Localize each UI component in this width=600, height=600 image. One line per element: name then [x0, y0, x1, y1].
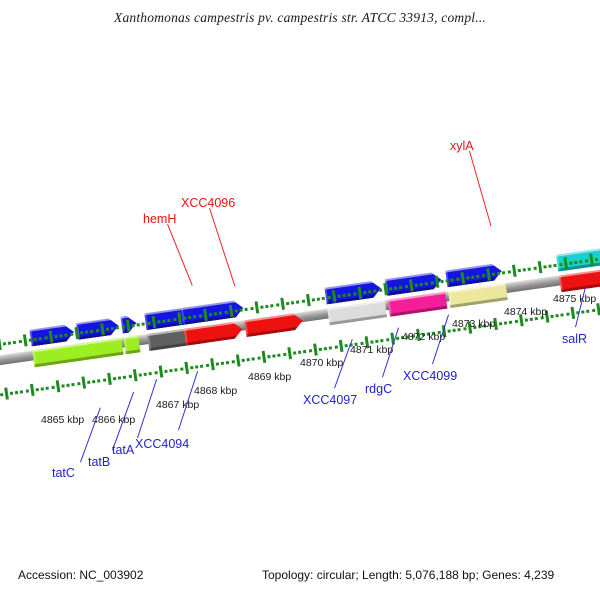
- minor-tick: [303, 350, 306, 353]
- minor-tick: [195, 365, 198, 368]
- minor-tick: [190, 366, 193, 369]
- minor-tick: [224, 311, 227, 314]
- major-tick: [435, 276, 440, 288]
- minor-tick: [260, 306, 263, 309]
- minor-tick: [70, 333, 73, 336]
- minor-tick: [271, 304, 274, 307]
- minor-tick: [272, 354, 275, 357]
- gene-feature-XCC4099-box[interactable]: [448, 283, 508, 308]
- gene-label-hemH[interactable]: hemH: [143, 212, 176, 226]
- minor-tick: [574, 261, 577, 264]
- minor-tick: [595, 258, 598, 261]
- minor-tick: [46, 387, 49, 390]
- minor-tick: [499, 322, 502, 325]
- minor-tick: [80, 331, 83, 334]
- minor-tick: [193, 315, 196, 318]
- minor-tick: [137, 323, 140, 326]
- minor-tick: [231, 360, 234, 363]
- minor-tick: [363, 291, 366, 294]
- minor-tick: [291, 301, 294, 304]
- major-tick: [0, 338, 2, 350]
- minor-tick: [219, 311, 222, 314]
- ruler-label-4865: 4865 kbp: [41, 414, 84, 426]
- minor-tick: [525, 318, 528, 321]
- ruler-label-4875: 4875 kbp: [553, 293, 596, 305]
- minor-tick: [15, 391, 18, 394]
- major-tick: [313, 343, 318, 355]
- gene-feature-XCC4096-cds[interactable]: [244, 312, 304, 337]
- minor-tick: [85, 330, 88, 333]
- minor-tick: [118, 376, 121, 379]
- minor-tick: [10, 392, 13, 395]
- ruler-label-4871: 4871 kbp: [350, 344, 393, 356]
- minor-tick: [319, 348, 322, 351]
- minor-tick: [51, 386, 54, 389]
- minor-tick: [77, 382, 80, 385]
- minor-tick: [327, 296, 330, 299]
- major-tick: [236, 354, 241, 366]
- major-tick: [596, 303, 600, 315]
- minor-tick: [247, 358, 250, 361]
- minor-tick: [368, 290, 371, 293]
- minor-tick: [66, 384, 69, 387]
- major-tick: [589, 254, 594, 266]
- minor-tick: [379, 289, 382, 292]
- major-tick: [210, 358, 215, 370]
- minor-tick: [128, 375, 131, 378]
- minor-tick: [425, 282, 428, 285]
- minor-tick: [121, 325, 124, 328]
- gene-feature-tatA-box[interactable]: [123, 335, 140, 354]
- major-tick: [409, 279, 414, 291]
- minor-tick: [44, 336, 47, 339]
- minor-tick: [420, 283, 423, 286]
- major-tick: [261, 351, 266, 363]
- minor-tick: [113, 377, 116, 380]
- major-tick: [23, 334, 28, 346]
- major-tick: [563, 257, 568, 269]
- minor-tick: [283, 353, 286, 356]
- minor-tick: [296, 300, 299, 303]
- minor-tick: [157, 320, 160, 323]
- minor-tick: [559, 263, 562, 266]
- major-tick: [512, 265, 517, 277]
- sequence-viewer-panel: Xanthomonas campestris pv. campestris st…: [0, 0, 600, 600]
- ruler-label-4866: 4866 kbp: [92, 414, 135, 426]
- minor-tick: [154, 371, 157, 374]
- minor-tick: [509, 321, 512, 324]
- minor-tick: [111, 327, 114, 330]
- minor-tick: [301, 300, 304, 303]
- minor-tick: [188, 316, 191, 319]
- topology-text: Topology: circular; Length: 5,076,188 bp…: [262, 568, 554, 582]
- minor-tick: [399, 286, 402, 289]
- gene-feature-hemH-cds[interactable]: [184, 321, 244, 346]
- minor-tick: [234, 309, 237, 312]
- gene-label-XCC4099[interactable]: XCC4099: [403, 369, 457, 383]
- minor-tick: [147, 322, 150, 325]
- minor-tick: [168, 319, 171, 322]
- minor-tick: [592, 309, 595, 312]
- minor-tick: [226, 361, 229, 364]
- minor-tick: [175, 368, 178, 371]
- major-tick: [254, 301, 259, 313]
- minor-tick: [396, 337, 399, 340]
- minor-tick: [579, 260, 582, 263]
- major-tick: [306, 294, 311, 306]
- minor-tick: [566, 313, 569, 316]
- minor-tick: [29, 338, 32, 341]
- minor-tick: [334, 345, 337, 348]
- minor-tick: [20, 390, 23, 393]
- minor-tick: [293, 351, 296, 354]
- minor-tick: [87, 381, 90, 384]
- major-tick: [339, 340, 344, 352]
- minor-tick: [144, 373, 147, 376]
- gene-label-tatA[interactable]: tatA: [112, 443, 134, 457]
- minor-tick: [329, 346, 332, 349]
- minor-tick: [97, 379, 100, 382]
- major-tick: [383, 283, 388, 295]
- minor-tick: [504, 321, 507, 324]
- major-tick: [538, 261, 543, 273]
- minor-tick: [518, 269, 521, 272]
- major-tick: [229, 305, 234, 317]
- minor-tick: [132, 324, 135, 327]
- ruler-label-4873: 4873 kbp: [452, 318, 495, 330]
- minor-tick: [549, 264, 552, 267]
- minor-tick: [344, 344, 347, 347]
- minor-tick: [404, 285, 407, 288]
- major-tick: [287, 347, 292, 359]
- minor-tick: [278, 354, 281, 357]
- minor-tick: [348, 293, 351, 296]
- major-tick: [107, 373, 112, 385]
- minor-tick: [36, 388, 39, 391]
- minor-tick: [353, 292, 356, 295]
- minor-tick: [308, 349, 311, 352]
- gene-label-rdgC[interactable]: rdgC: [365, 382, 392, 396]
- minor-tick: [447, 329, 450, 332]
- gene-feature-body: [184, 321, 244, 346]
- minor-tick: [216, 362, 219, 365]
- gene-feature-rdgC-box[interactable]: [388, 292, 448, 317]
- minor-tick: [34, 338, 37, 341]
- major-tick: [30, 384, 35, 396]
- gene-feature-body: [244, 312, 304, 337]
- ruler-label-4867: 4867 kbp: [156, 399, 199, 411]
- minor-tick: [569, 262, 572, 265]
- minor-tick: [322, 297, 325, 300]
- major-tick: [151, 316, 156, 328]
- minor-tick: [276, 303, 279, 306]
- major-tick: [280, 298, 285, 310]
- minor-tick: [162, 319, 165, 322]
- major-tick: [55, 380, 60, 392]
- minor-tick: [298, 351, 301, 354]
- minor-tick: [265, 305, 268, 308]
- minor-tick: [149, 372, 152, 375]
- minor-tick: [41, 387, 44, 390]
- minor-tick: [139, 373, 142, 376]
- minor-tick: [142, 322, 145, 325]
- page-title: Xanthomonas campestris pv. campestris st…: [0, 10, 600, 26]
- minor-tick: [585, 259, 588, 262]
- gene-feature-body: [448, 283, 508, 308]
- minor-tick: [456, 278, 459, 281]
- minor-tick: [200, 365, 203, 368]
- minor-tick: [556, 314, 559, 317]
- gene-feature-XCC4097-box[interactable]: [327, 300, 387, 325]
- major-tick: [81, 376, 86, 388]
- minor-tick: [245, 308, 248, 311]
- minor-tick: [116, 326, 119, 329]
- minor-tick: [286, 302, 289, 305]
- minor-tick: [221, 362, 224, 365]
- minor-tick: [337, 295, 340, 298]
- minor-tick: [180, 367, 183, 370]
- minor-tick: [240, 308, 243, 311]
- minor-tick: [415, 284, 418, 287]
- major-tick: [158, 365, 163, 377]
- minor-tick: [550, 315, 553, 318]
- minor-tick: [257, 356, 260, 359]
- graphical-sequence-view[interactable]: 4865 kbp4866 kbp4867 kbp4868 kbp4869 kbp…: [0, 85, 600, 505]
- major-tick: [126, 320, 131, 332]
- minor-tick: [92, 380, 95, 383]
- minor-tick: [65, 333, 68, 336]
- minor-tick: [25, 389, 28, 392]
- gene-label-XCC4097[interactable]: XCC4097: [303, 393, 357, 407]
- major-tick: [570, 307, 575, 319]
- minor-tick: [90, 330, 93, 333]
- minor-tick: [8, 341, 11, 344]
- minor-tick: [242, 359, 245, 362]
- minor-tick: [0, 393, 3, 396]
- accession-text: Accession: NC_003902: [18, 568, 143, 582]
- minor-tick: [381, 339, 384, 342]
- gene-label-xylA[interactable]: xylA: [450, 139, 474, 153]
- minor-tick: [54, 335, 57, 338]
- major-tick: [100, 323, 105, 335]
- minor-tick: [514, 320, 517, 323]
- minor-tick: [561, 313, 564, 316]
- minor-tick: [446, 279, 449, 282]
- gene-label-tatB[interactable]: tatB: [88, 455, 110, 469]
- minor-tick: [123, 376, 126, 379]
- major-tick: [184, 362, 189, 374]
- minor-tick: [250, 307, 253, 310]
- minor-tick: [214, 312, 217, 315]
- ruler-label-4870: 4870 kbp: [300, 357, 343, 369]
- gene-feature-body: [327, 300, 387, 325]
- gene-label-XCC4094[interactable]: XCC4094: [135, 437, 189, 451]
- minor-tick: [375, 340, 378, 343]
- major-tick: [4, 387, 9, 399]
- minor-tick: [164, 370, 167, 373]
- gene-label-salR[interactable]: salR: [562, 332, 587, 346]
- gene-label-tatC[interactable]: tatC: [52, 466, 75, 480]
- minor-tick: [586, 310, 589, 313]
- minor-tick: [103, 378, 106, 381]
- minor-tick: [183, 316, 186, 319]
- major-tick: [460, 272, 465, 284]
- major-tick: [486, 268, 491, 280]
- minor-tick: [205, 364, 208, 367]
- minor-tick: [471, 275, 474, 278]
- status-bar: Accession: NC_003902 Topology: circular;…: [0, 568, 600, 588]
- minor-tick: [72, 383, 75, 386]
- minor-tick: [507, 270, 510, 273]
- major-tick: [133, 369, 138, 381]
- minor-tick: [373, 289, 376, 292]
- ruler-label-4874: 4874 kbp: [504, 306, 547, 318]
- minor-tick: [430, 281, 433, 284]
- minor-tick: [502, 271, 505, 274]
- minor-tick: [267, 355, 270, 358]
- minor-tick: [581, 310, 584, 313]
- minor-tick: [343, 294, 346, 297]
- major-tick: [74, 327, 79, 339]
- minor-tick: [173, 318, 176, 321]
- gene-feature-body: [123, 335, 140, 354]
- minor-tick: [466, 276, 469, 279]
- minor-tick: [476, 275, 479, 278]
- minor-tick: [554, 264, 557, 267]
- minor-tick: [451, 278, 454, 281]
- major-tick: [357, 287, 362, 299]
- minor-tick: [13, 341, 16, 344]
- minor-tick: [394, 286, 397, 289]
- major-tick: [177, 312, 182, 324]
- scale-tick-layer: [0, 188, 600, 284]
- minor-tick: [533, 267, 536, 270]
- minor-tick: [106, 327, 109, 330]
- minor-tick: [39, 337, 42, 340]
- minor-tick: [317, 297, 320, 300]
- minor-tick: [18, 340, 21, 343]
- minor-tick: [3, 342, 6, 345]
- minor-tick: [530, 318, 533, 321]
- minor-tick: [312, 298, 315, 301]
- minor-tick: [528, 267, 531, 270]
- minor-tick: [324, 347, 327, 350]
- gene-feature-body: [388, 292, 448, 317]
- minor-tick: [497, 272, 500, 275]
- minor-tick: [523, 268, 526, 271]
- gene-label-XCC4096[interactable]: XCC4096: [181, 196, 235, 210]
- minor-tick: [389, 287, 392, 290]
- minor-tick: [492, 273, 495, 276]
- minor-tick: [440, 280, 443, 283]
- minor-tick: [543, 265, 546, 268]
- minor-tick: [198, 314, 201, 317]
- minor-tick: [59, 334, 62, 337]
- minor-tick: [386, 338, 389, 341]
- ruler-label-4868: 4868 kbp: [194, 385, 237, 397]
- minor-tick: [482, 274, 485, 277]
- major-tick: [332, 290, 337, 302]
- minor-tick: [209, 313, 212, 316]
- major-tick: [203, 309, 208, 321]
- ruler-label-4869: 4869 kbp: [248, 371, 291, 383]
- minor-tick: [95, 329, 98, 332]
- major-tick: [48, 331, 53, 343]
- minor-tick: [61, 384, 64, 387]
- minor-tick: [169, 369, 172, 372]
- upper-scale-line: [0, 242, 600, 357]
- minor-tick: [252, 357, 255, 360]
